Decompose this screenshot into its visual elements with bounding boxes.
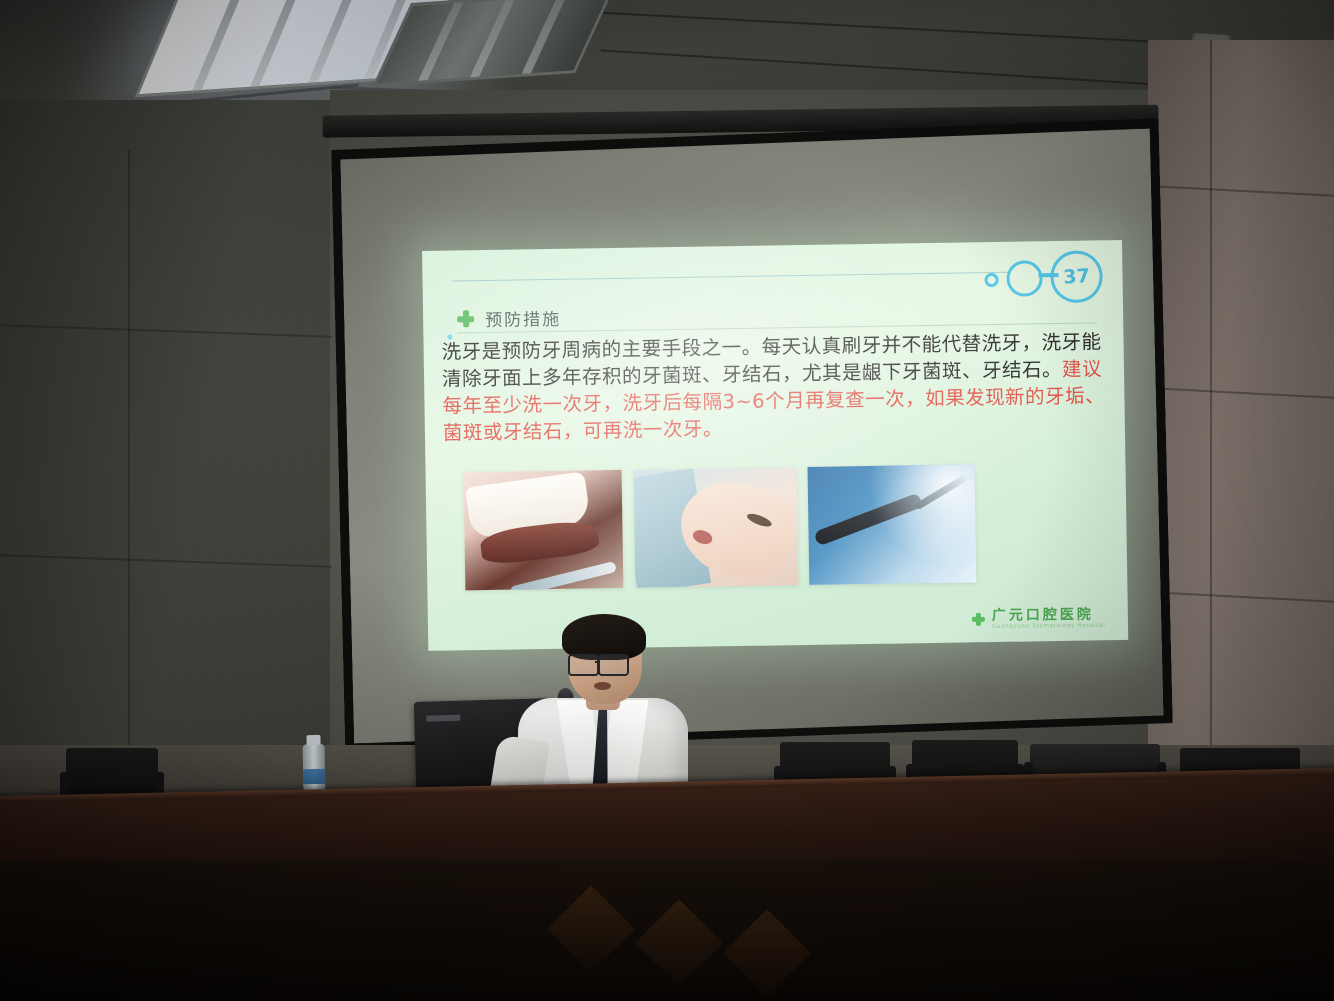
badge-dot-icon <box>984 273 998 287</box>
logo-name-en: Guangyuan Stomatology Hospital <box>992 623 1106 629</box>
slide-image-row <box>426 462 1128 593</box>
slide-page-badge: 37 <box>956 246 1107 308</box>
right-wall-tiles <box>1148 40 1334 840</box>
screen-surface: 37 预防措施 洗牙是预防牙周病的主要手段之一。每天认真刷牙并不能代替洗牙，洗牙… <box>340 129 1164 744</box>
slide-title-row: 预防措施 <box>457 305 561 332</box>
lecture-hall-photo: 37 预防措施 洗牙是预防牙周病的主要手段之一。每天认真刷牙并不能代替洗牙，洗牙… <box>0 0 1334 1001</box>
slide-body-text: 洗牙是预防牙周病的主要手段之一。每天认真刷牙并不能代替洗牙，洗牙能清除牙面上多年… <box>441 328 1115 447</box>
mouth <box>594 682 611 690</box>
green-cross-icon <box>457 310 474 327</box>
logo-name-cn: 广元口腔医院 <box>992 607 1106 622</box>
page-title: 预防措施 <box>485 305 561 331</box>
projection-screen: 37 预防措施 洗牙是预防牙周病的主要手段之一。每天认真刷牙并不能代替洗牙，洗牙… <box>331 118 1173 759</box>
bottle-label <box>303 769 325 784</box>
body-text-black: 洗牙是预防牙周病的主要手段之一。每天认真刷牙并不能代替洗牙，洗牙能清除牙面上多年… <box>441 330 1101 390</box>
eyeglasses-icon <box>598 654 629 676</box>
teeth-closeup-photo <box>464 470 624 590</box>
page-number: 37 <box>1049 249 1104 304</box>
green-cross-icon <box>972 613 985 626</box>
foreground-panel <box>0 860 1334 1001</box>
bottle-cap <box>306 735 320 745</box>
projected-slide: 37 预防措施 洗牙是预防牙周病的主要手段之一。每天认真刷牙并不能代替洗牙，洗牙… <box>422 240 1128 651</box>
patient-in-chair-photo <box>634 467 799 588</box>
laptop-brand-logo <box>426 715 460 722</box>
eyeglasses-icon <box>568 654 599 676</box>
presenter <box>510 612 700 797</box>
hospital-logo: 广元口腔医院 Guangyuan Stomatology Hospital <box>972 607 1106 630</box>
slide-header-rule <box>453 272 1011 282</box>
eyeglasses-bridge <box>595 661 600 663</box>
badge-small-circle-icon <box>1006 260 1043 297</box>
water-bottle <box>303 744 326 792</box>
ultrasonic-scaler-photo <box>808 464 977 585</box>
